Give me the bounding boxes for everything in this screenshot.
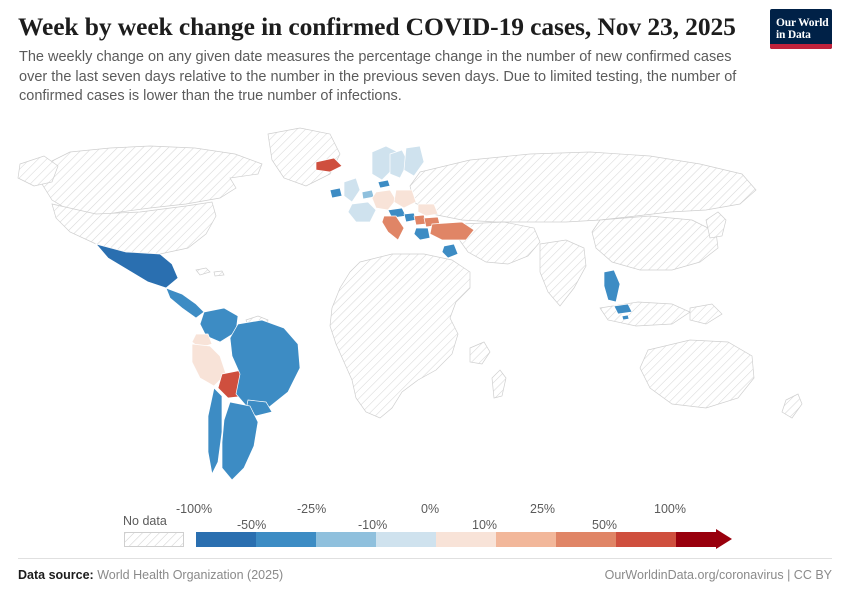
legend-swatch-7 — [616, 532, 676, 547]
legend-tick-zero: 0% — [421, 502, 439, 516]
page-subtitle: The weekly change on any given date meas… — [19, 48, 741, 107]
footer-attribution[interactable]: OurWorldinData.org/coronavirus | CC BY — [605, 568, 832, 582]
legend-swatch-2 — [316, 532, 376, 547]
legend-swatch-6 — [556, 532, 616, 547]
legend-tick-10: 10% — [472, 518, 497, 532]
footer-source-value: World Health Organization (2025) — [97, 568, 283, 582]
world-map-svg — [0, 112, 850, 492]
legend-no-data-swatch — [124, 532, 184, 547]
page-title: Week by week change in confirmed COVID-1… — [18, 12, 736, 42]
footer-source-label: Data source: — [18, 568, 94, 582]
chart-page: Week by week change in confirmed COVID-1… — [0, 0, 850, 600]
legend-swatch-5 — [496, 532, 556, 547]
legend-tick-neg100: -100% — [176, 502, 212, 516]
legend-swatch-1 — [256, 532, 316, 547]
legend-swatch-3 — [376, 532, 436, 547]
legend-tick-100: 100% — [654, 502, 686, 516]
owid-logo-line1: Our World — [776, 17, 832, 30]
legend-tick-25: 25% — [530, 502, 555, 516]
legend-tick-50: 50% — [592, 518, 617, 532]
legend-no-data-pattern — [125, 533, 183, 546]
legend-tick-labels: -100% -25% 0% 25% 100% -50% -10% 10% 50% — [0, 498, 850, 532]
legend-swatch-4 — [436, 532, 496, 547]
legend-color-bar — [196, 532, 730, 547]
legend-swatch-0 — [196, 532, 256, 547]
legend-tick-neg50: -50% — [237, 518, 266, 532]
map-legend: No data -100% -25% 0% 25% 100% -50% -10%… — [0, 498, 850, 550]
owid-logo-bar — [770, 44, 832, 49]
legend-tick-neg10: -10% — [358, 518, 387, 532]
owid-logo[interactable]: Our World in Data — [770, 9, 832, 49]
world-map[interactable] — [0, 112, 850, 492]
legend-tick-neg25: -25% — [297, 502, 326, 516]
legend-arrow-icon — [716, 529, 732, 549]
owid-logo-line2: in Data — [776, 29, 832, 42]
legend-swatch-8 — [676, 532, 716, 547]
footer-divider — [18, 558, 832, 559]
